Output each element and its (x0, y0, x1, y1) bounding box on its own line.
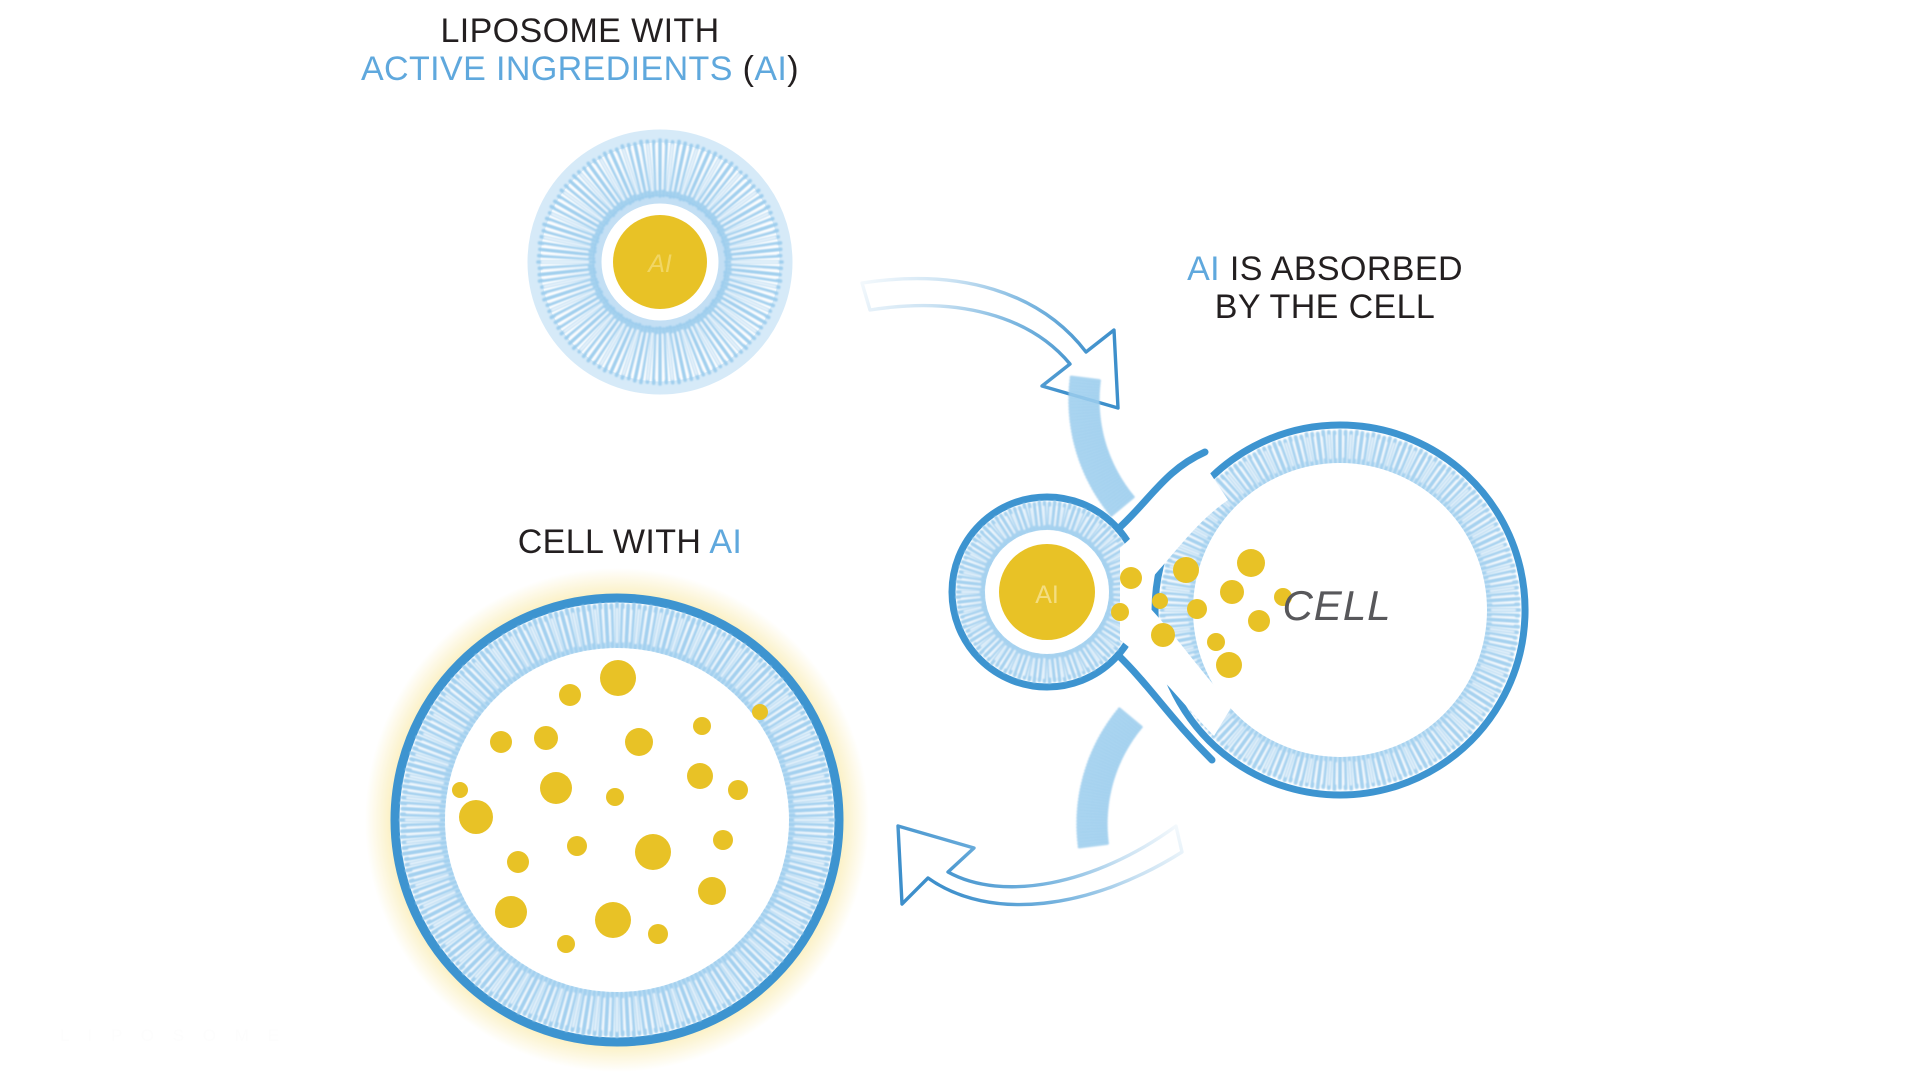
ai-particle (648, 924, 668, 944)
cytoplasm (445, 648, 789, 992)
ai-particle (459, 800, 493, 834)
ai-particle (557, 935, 575, 953)
ai-particle (606, 788, 624, 806)
watermark-text: L I P O S O M E (60, 1026, 286, 1046)
ai-particle (1207, 633, 1225, 651)
ai-particle (625, 728, 653, 756)
ai-absorbed-by-cell: AI CELL (952, 377, 1525, 846)
ai-particle (687, 763, 713, 789)
caption-absorbed: AI IS ABSORBED BY THE CELL (1065, 250, 1585, 326)
ai-particle (1220, 580, 1244, 604)
caption-liposome-line1: LIPOSOME WITH (280, 12, 880, 50)
caption-cell-with-ai-blue: AI (709, 523, 742, 561)
ai-particle (752, 704, 768, 720)
fusing-ai-core-label: AI (1035, 581, 1059, 609)
ai-particle (728, 780, 748, 800)
ai-particle (693, 717, 711, 735)
ai-particle (495, 896, 527, 928)
ai-particle (1237, 549, 1265, 577)
ai-particle (1152, 593, 1168, 609)
ai-particle (600, 660, 636, 696)
cell-with-ai (365, 568, 869, 1072)
cell-interior-label: CELL (1282, 582, 1391, 629)
ai-particle (595, 902, 631, 938)
caption-liposome-active-ingredients: ACTIVE INGREDIENTS (361, 50, 733, 88)
liposome-with-ai: AI (534, 136, 786, 388)
diagram-svg: AI AI (0, 0, 1920, 1080)
ai-particle (1120, 567, 1142, 589)
ai-particle (452, 782, 468, 798)
ai-particle (698, 877, 726, 905)
caption-liposome: LIPOSOME WITH ACTIVE INGREDIENTS (AI) (280, 12, 880, 88)
arrow-cell-to-cell-with-ai (898, 826, 1182, 905)
caption-absorbed-line2: BY THE CELL (1065, 288, 1585, 326)
diagram-canvas: AI AI (0, 0, 1920, 1080)
caption-liposome-line2: ACTIVE INGREDIENTS (AI) (280, 50, 880, 88)
ai-particle (1187, 599, 1207, 619)
ai-particle (1216, 652, 1242, 678)
caption-absorbed-rest: IS ABSORBED (1220, 250, 1463, 288)
ai-particle (567, 836, 587, 856)
caption-liposome-abbrev: AI (754, 50, 787, 88)
caption-absorbed-line1: AI IS ABSORBED (1065, 250, 1585, 288)
ai-particle (1173, 557, 1199, 583)
caption-liposome-paren-close: ) (787, 50, 799, 88)
ai-particle (1248, 610, 1270, 632)
caption-cell-with-ai-line: CELL WITH AI (330, 523, 930, 561)
ai-particle (713, 830, 733, 850)
caption-liposome-paren-open: ( (733, 50, 755, 88)
ai-particle (1111, 603, 1129, 621)
ai-particle (490, 731, 512, 753)
ai-particle (559, 684, 581, 706)
ai-particle (1151, 623, 1175, 647)
caption-cell-with-ai-dark: CELL WITH (518, 523, 710, 561)
ai-particle (507, 851, 529, 873)
ai-particle (635, 834, 671, 870)
caption-absorbed-ai: AI (1187, 250, 1220, 288)
ai-particle (540, 772, 572, 804)
caption-cell-with-ai: CELL WITH AI (330, 523, 930, 561)
ai-particle (534, 726, 558, 750)
ai-core-label: AI (646, 250, 672, 278)
